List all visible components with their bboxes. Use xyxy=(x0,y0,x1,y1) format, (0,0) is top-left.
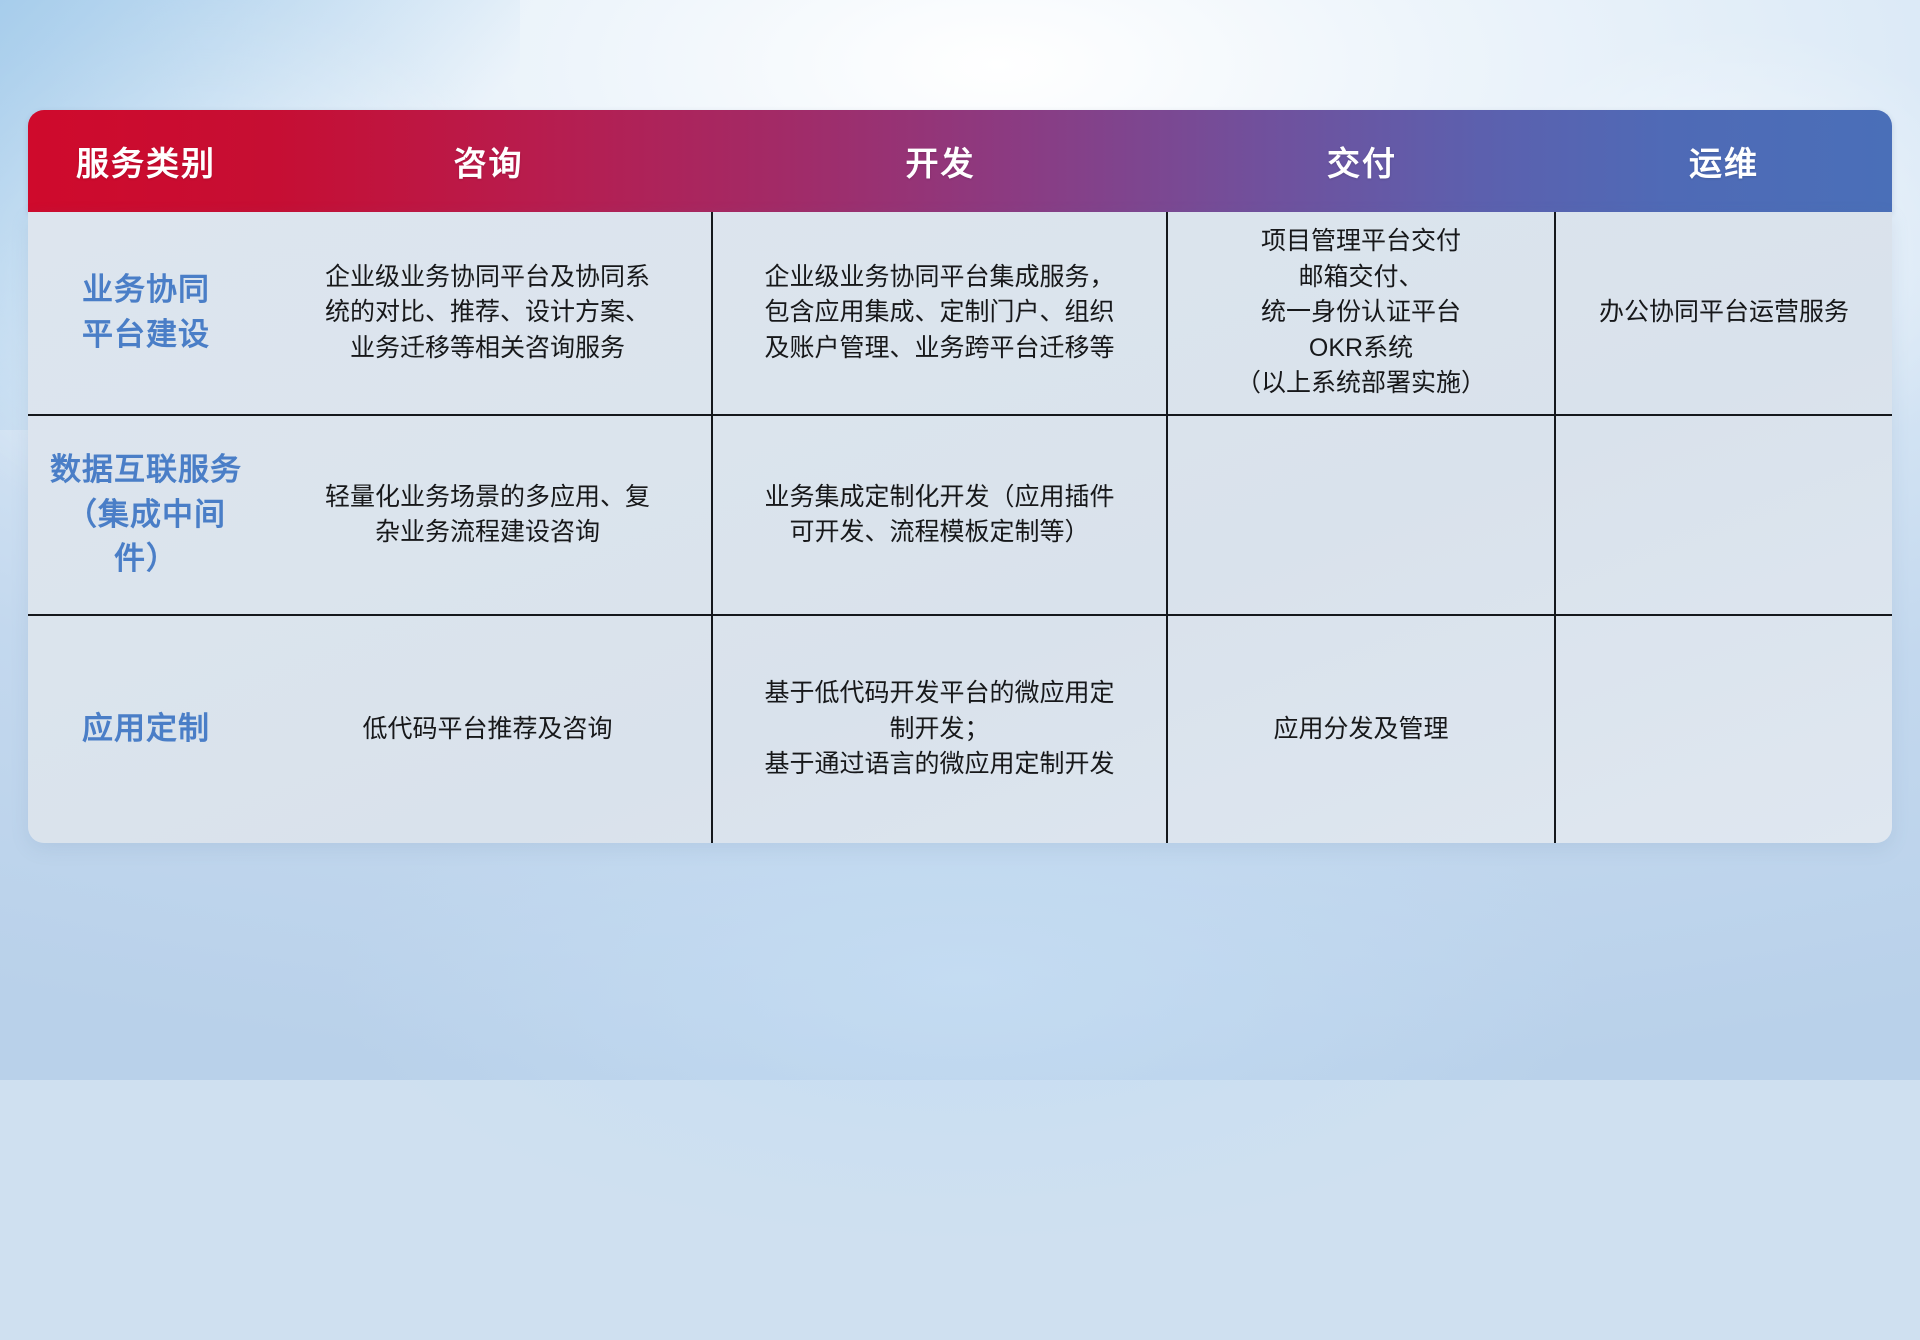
cell-delivery: 项目管理平台交付 邮箱交付、 统一身份认证平台 OKR系统 （以上系统部署实施） xyxy=(1168,212,1556,414)
column-header-service-category: 服务类别 xyxy=(28,110,264,212)
column-header-development: 开发 xyxy=(713,110,1168,212)
cell-consulting: 轻量化业务场景的多应用、复 杂业务流程建设咨询 xyxy=(264,416,713,614)
cell-operations: 办公协同平台运营服务 xyxy=(1556,212,1892,414)
cell-operations xyxy=(1556,416,1892,614)
table-row: 数据互联服务 （集成中间件） 轻量化业务场景的多应用、复 杂业务流程建设咨询 业… xyxy=(28,414,1892,614)
table-row: 业务协同 平台建设 企业级业务协同平台及协同系 统的对比、推荐、设计方案、 业务… xyxy=(28,212,1892,414)
cell-consulting: 低代码平台推荐及咨询 xyxy=(264,616,713,843)
cell-delivery xyxy=(1168,416,1556,614)
column-header-consulting: 咨询 xyxy=(264,110,713,212)
cell-development: 业务集成定制化开发（应用插件 可开发、流程模板定制等） xyxy=(713,416,1168,614)
cell-category: 应用定制 xyxy=(28,616,264,843)
cell-development: 基于低代码开发平台的微应用定 制开发； 基于通过语言的微应用定制开发 xyxy=(713,616,1168,843)
table-body: 业务协同 平台建设 企业级业务协同平台及协同系 统的对比、推荐、设计方案、 业务… xyxy=(28,212,1892,843)
cell-category: 业务协同 平台建设 xyxy=(28,212,264,414)
column-header-operations: 运维 xyxy=(1556,110,1892,212)
table-header-row: 服务类别 咨询 开发 交付 运维 xyxy=(28,110,1892,212)
table-row: 应用定制 低代码平台推荐及咨询 基于低代码开发平台的微应用定 制开发； 基于通过… xyxy=(28,614,1892,843)
cell-operations xyxy=(1556,616,1892,843)
cell-consulting: 企业级业务协同平台及协同系 统的对比、推荐、设计方案、 业务迁移等相关咨询服务 xyxy=(264,212,713,414)
column-header-delivery: 交付 xyxy=(1168,110,1556,212)
service-matrix-table: 服务类别 咨询 开发 交付 运维 业务协同 平台建设 企业级业务协同平台及协同系… xyxy=(28,110,1892,843)
cell-category: 数据互联服务 （集成中间件） xyxy=(28,416,264,614)
cell-delivery: 应用分发及管理 xyxy=(1168,616,1556,843)
cell-development: 企业级业务协同平台集成服务， 包含应用集成、定制门户、组织 及账户管理、业务跨平… xyxy=(713,212,1168,414)
